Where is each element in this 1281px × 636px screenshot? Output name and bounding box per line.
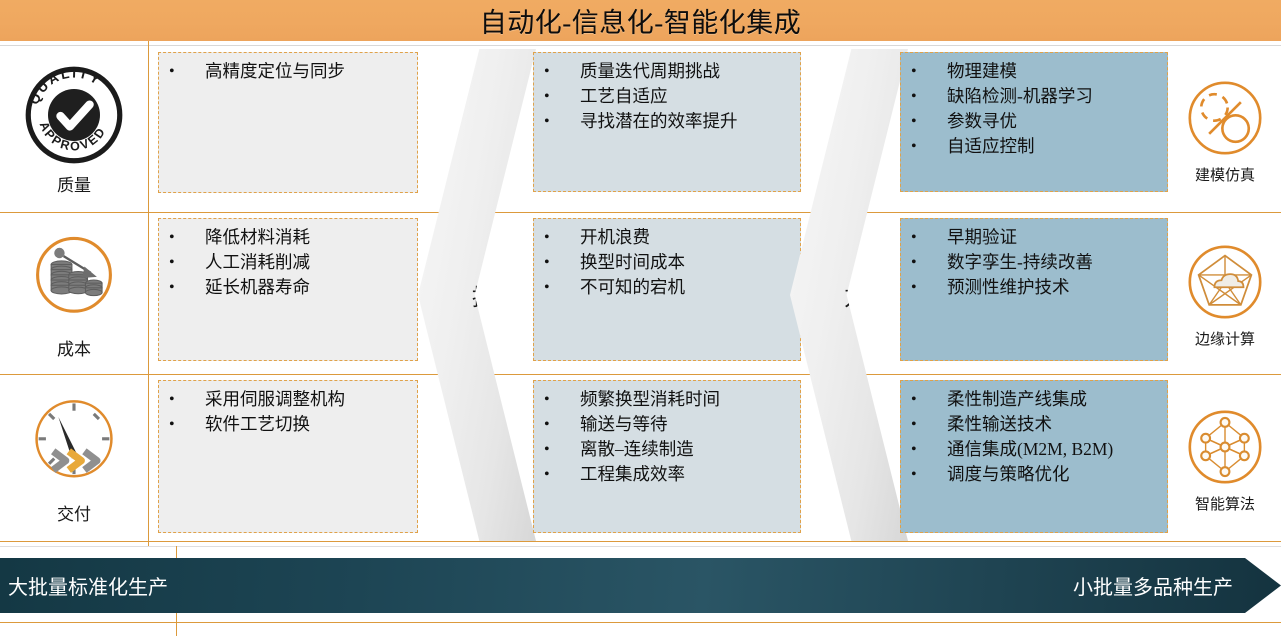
modeling-simulation-icon xyxy=(1181,74,1269,162)
list-item: •柔性制造产线集成 xyxy=(905,387,1163,412)
right-category-intelligent-algorithm: 智能算法 xyxy=(1169,376,1281,540)
bullet-marker: • xyxy=(163,250,205,275)
list-item-text: 高精度定位与同步 xyxy=(205,59,413,84)
bullet-marker: • xyxy=(905,109,947,134)
divider-row-1 xyxy=(0,212,1281,213)
page-title: 自动化-信息化-智能化集成 xyxy=(480,1,801,40)
bullet-marker: • xyxy=(905,275,947,300)
list-item-text: 柔性制造产线集成 xyxy=(947,387,1163,412)
bullet-list: •柔性制造产线集成 •柔性输送技术 •通信集成(M2M, B2M) •调度与策略… xyxy=(905,387,1163,487)
bullet-marker: • xyxy=(163,387,205,412)
list-item: •高精度定位与同步 xyxy=(163,59,413,84)
bullet-marker: • xyxy=(538,225,580,250)
list-item: •换型时间成本 xyxy=(538,250,796,275)
list-item-text: 参数寻优 xyxy=(947,109,1163,134)
list-item: •数字孪生-持续改善 xyxy=(905,250,1163,275)
list-item-text: 离散–连续制造 xyxy=(580,437,796,462)
bullet-marker: • xyxy=(538,412,580,437)
list-item-text: 预测性维护技术 xyxy=(947,275,1163,300)
title-bar: 自动化-信息化-智能化集成 xyxy=(0,0,1281,41)
list-item: •质量迭代周期挑战 xyxy=(538,59,796,84)
left-category-quality: QUALITY APPROVED 质量 xyxy=(0,47,148,211)
list-item: •工艺自适应 xyxy=(538,84,796,109)
list-item-text: 换型时间成本 xyxy=(580,250,796,275)
right-category-edge-computing: 边缘计算 xyxy=(1169,214,1281,373)
list-item: •自适应控制 xyxy=(905,134,1163,159)
chevron-label: 挑战 xyxy=(472,278,518,312)
list-item-text: 早期验证 xyxy=(947,225,1163,250)
bullet-list: •降低材料消耗 •人工消耗削减 •延长机器寿命 xyxy=(163,225,413,300)
bottom-band: 大批量标准化生产 小批量多品种生产 xyxy=(0,546,1281,636)
content-box-solution-row3: •柔性制造产线集成 •柔性输送技术 •通信集成(M2M, B2M) •调度与策略… xyxy=(900,380,1168,533)
list-item: •早期验证 xyxy=(905,225,1163,250)
content-box-challenge-row1: •质量迭代周期挑战 •工艺自适应 •寻找潜在的效率提升 xyxy=(533,52,801,192)
arrow-label-right: 小批量多品种生产 xyxy=(1073,571,1233,600)
bullet-marker: • xyxy=(905,84,947,109)
slide-canvas: 自动化-信息化-智能化集成 QUALITY APPROVED xyxy=(0,0,1281,636)
quality-approved-stamp-icon: QUALITY APPROVED xyxy=(22,63,126,167)
list-item-text: 人工消耗削减 xyxy=(205,250,413,275)
divider-vertical-left xyxy=(148,41,149,546)
divider-row-2 xyxy=(0,374,1281,375)
bullet-marker: • xyxy=(905,387,947,412)
list-item-text: 自适应控制 xyxy=(947,134,1163,159)
list-item-text: 采用伺服调整机构 xyxy=(205,387,413,412)
list-item: •参数寻优 xyxy=(905,109,1163,134)
content-box-challenge-row3: •频繁换型消耗时间 •输送与等待 •离散–连续制造 •工程集成效率 xyxy=(533,380,801,533)
list-item: •调度与策略优化 xyxy=(905,462,1163,487)
list-item-text: 工程集成效率 xyxy=(580,462,796,487)
left-category-label: 质量 xyxy=(57,171,91,196)
bullet-marker: • xyxy=(163,275,205,300)
left-category-label: 交付 xyxy=(57,500,91,525)
arrow-label-left: 大批量标准化生产 xyxy=(8,571,168,600)
list-item: •人工消耗削减 xyxy=(163,250,413,275)
content-box-current-row2: •降低材料消耗 •人工消耗削减 •延长机器寿命 xyxy=(158,218,418,361)
bullet-marker: • xyxy=(538,462,580,487)
list-item-text: 寻找潜在的效率提升 xyxy=(580,109,796,134)
cost-coins-down-arrow-icon xyxy=(22,227,126,331)
list-item-text: 缺陷检测-机器学习 xyxy=(947,84,1163,109)
list-item: •不可知的宕机 xyxy=(538,275,796,300)
bullet-list: •早期验证 •数字孪生-持续改善 •预测性维护技术 xyxy=(905,225,1163,300)
bullet-marker: • xyxy=(905,59,947,84)
bullet-list: •采用伺服调整机构 •软件工艺切换 xyxy=(163,387,413,437)
bullet-list: •开机浪费 •换型时间成本 •不可知的宕机 xyxy=(538,225,796,300)
bullet-marker: • xyxy=(538,275,580,300)
list-item: •输送与等待 xyxy=(538,412,796,437)
bullet-marker: • xyxy=(905,437,947,462)
list-item: •柔性输送技术 xyxy=(905,412,1163,437)
bullet-marker: • xyxy=(538,109,580,134)
list-item-text: 通信集成(M2M, B2M) xyxy=(947,437,1163,462)
list-item-text: 频繁换型消耗时间 xyxy=(580,387,796,412)
list-item: •工程集成效率 xyxy=(538,462,796,487)
bullet-marker: • xyxy=(538,84,580,109)
bottom-horizontal-rule xyxy=(0,622,1281,623)
list-item: •频繁换型消耗时间 xyxy=(538,387,796,412)
bullet-marker: • xyxy=(163,412,205,437)
bullet-marker: • xyxy=(905,462,947,487)
content-box-current-row3: •采用伺服调整机构 •软件工艺切换 xyxy=(158,380,418,533)
bullet-marker: • xyxy=(538,387,580,412)
bullet-list: •物理建模 •缺陷检测-机器学习 •参数寻优 •自适应控制 xyxy=(905,59,1163,159)
content-box-solution-row2: •早期验证 •数字孪生-持续改善 •预测性维护技术 xyxy=(900,218,1168,361)
bullet-marker: • xyxy=(905,225,947,250)
list-item: •预测性维护技术 xyxy=(905,275,1163,300)
divider-bottom xyxy=(0,541,1281,542)
content-box-current-row1: •高精度定位与同步 xyxy=(158,52,418,193)
list-item: •延长机器寿命 xyxy=(163,275,413,300)
list-item: •离散–连续制造 xyxy=(538,437,796,462)
list-item: •采用伺服调整机构 xyxy=(163,387,413,412)
divider-top xyxy=(0,45,1281,46)
list-item: •通信集成(M2M, B2M) xyxy=(905,437,1163,462)
content-box-solution-row1: •物理建模 •缺陷检测-机器学习 •参数寻优 •自适应控制 xyxy=(900,52,1168,192)
bottom-separator xyxy=(0,546,1281,547)
list-item-text: 软件工艺切换 xyxy=(205,412,413,437)
list-item-text: 质量迭代周期挑战 xyxy=(580,59,796,84)
solution-chevron: 方案 xyxy=(790,49,908,541)
list-item: •物理建模 xyxy=(905,59,1163,84)
bullet-marker: • xyxy=(163,225,205,250)
left-category-label: 成本 xyxy=(57,335,91,360)
list-item-text: 输送与等待 xyxy=(580,412,796,437)
list-item: •缺陷检测-机器学习 xyxy=(905,84,1163,109)
matrix-body: QUALITY APPROVED 质量 xyxy=(0,41,1281,546)
challenge-chevron: 挑战 xyxy=(418,49,536,541)
bullet-list: •质量迭代周期挑战 •工艺自适应 •寻找潜在的效率提升 xyxy=(538,59,796,134)
list-item-text: 开机浪费 xyxy=(580,225,796,250)
list-item: •降低材料消耗 xyxy=(163,225,413,250)
list-item-text: 柔性输送技术 xyxy=(947,412,1163,437)
right-category-label: 建模仿真 xyxy=(1195,164,1255,185)
right-category-label: 智能算法 xyxy=(1195,493,1255,514)
right-category-label: 边缘计算 xyxy=(1195,328,1255,349)
bullet-marker: • xyxy=(905,412,947,437)
bullet-list: •高精度定位与同步 xyxy=(163,59,413,84)
production-spectrum-arrow: 大批量标准化生产 小批量多品种生产 xyxy=(0,558,1281,613)
bullet-marker: • xyxy=(538,59,580,84)
right-category-modeling: 建模仿真 xyxy=(1169,47,1281,211)
list-item: •寻找潜在的效率提升 xyxy=(538,109,796,134)
list-item-text: 调度与策略优化 xyxy=(947,462,1163,487)
edge-computing-cloud-icon xyxy=(1181,238,1269,326)
left-category-cost: 成本 xyxy=(0,214,148,373)
list-item-text: 数字孪生-持续改善 xyxy=(947,250,1163,275)
left-category-delivery: 交付 xyxy=(0,376,148,540)
list-item-text: 延长机器寿命 xyxy=(205,275,413,300)
list-item: •开机浪费 xyxy=(538,225,796,250)
content-box-challenge-row2: •开机浪费 •换型时间成本 •不可知的宕机 xyxy=(533,218,801,361)
chevron-label: 方案 xyxy=(844,278,890,312)
bullet-list: •频繁换型消耗时间 •输送与等待 •离散–连续制造 •工程集成效率 xyxy=(538,387,796,487)
list-item-text: 降低材料消耗 xyxy=(205,225,413,250)
list-item: •软件工艺切换 xyxy=(163,412,413,437)
intelligent-algorithm-neural-net-icon xyxy=(1181,403,1269,491)
list-item-text: 物理建模 xyxy=(947,59,1163,84)
bullet-marker: • xyxy=(163,59,205,84)
bullet-marker: • xyxy=(905,134,947,159)
list-item-text: 不可知的宕机 xyxy=(580,275,796,300)
bullet-marker: • xyxy=(538,437,580,462)
bullet-marker: • xyxy=(538,250,580,275)
bullet-marker: • xyxy=(905,250,947,275)
delivery-clock-chevrons-icon xyxy=(22,392,126,496)
list-item-text: 工艺自适应 xyxy=(580,84,796,109)
